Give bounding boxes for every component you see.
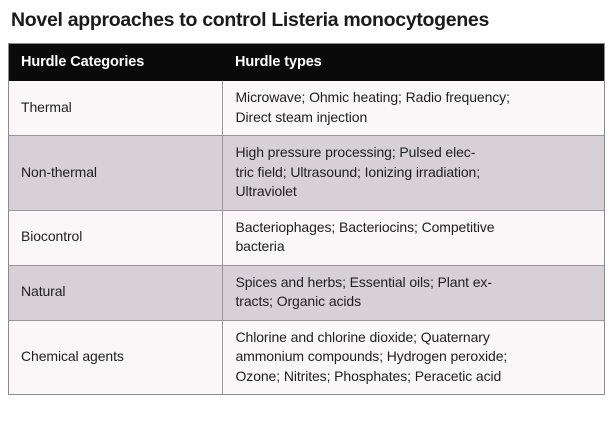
cell-hurdle-category: Chemical agents (9, 320, 222, 394)
cell-text-line: Direct steam injection (236, 108, 597, 128)
table-row: NaturalSpices and herbs; Essential oils;… (9, 265, 604, 320)
cell-text-line: Bacteriophages; Bacteriocins; Competitiv… (236, 218, 597, 238)
cell-hurdle-types: Chlorine and chlorine dioxide; Quaternar… (222, 320, 604, 394)
cell-hurdle-category: Non-thermal (9, 136, 222, 211)
cell-text-line: Ultraviolet (236, 182, 597, 202)
cell-text-line: bacteria (236, 237, 597, 257)
cell-text-line: Spices and herbs; Essential oils; Plant … (236, 273, 597, 293)
cell-hurdle-types: Spices and herbs; Essential oils; Plant … (222, 265, 604, 320)
cell-text-line: High pressure processing; Pulsed elec- (236, 143, 597, 163)
cell-hurdle-types: Bacteriophages; Bacteriocins; Competitiv… (222, 210, 604, 265)
cell-hurdle-category: Biocontrol (9, 210, 222, 265)
cell-text-line: Chlorine and chlorine dioxide; Quaternar… (236, 328, 597, 348)
table-row: Non-thermalHigh pressure processing; Pul… (9, 136, 604, 211)
cell-text-line: tric field; Ultrasound; Ionizing irradia… (236, 163, 597, 183)
cell-text-line: Ozone; Nitrites; Phosphates; Peracetic a… (236, 367, 597, 387)
table-row: Chemical agentsChlorine and chlorine dio… (9, 320, 604, 394)
table-header-row: Hurdle Categories Hurdle types (9, 44, 604, 81)
column-header-hurdle-types: Hurdle types (222, 44, 604, 81)
page-title: Novel approaches to control Listeria mon… (11, 8, 607, 32)
table-header: Hurdle Categories Hurdle types (9, 44, 604, 81)
cell-hurdle-category: Thermal (9, 81, 222, 136)
cell-text-line: ammonium compounds; Hydrogen peroxide; (236, 347, 597, 367)
cell-text-line: tracts; Organic acids (236, 292, 597, 312)
column-header-hurdle-categories: Hurdle Categories (9, 44, 222, 81)
hurdle-table: Hurdle Categories Hurdle types ThermalMi… (9, 44, 604, 394)
table-row: ThermalMicrowave; Ohmic heating; Radio f… (9, 81, 604, 136)
table-row: BiocontrolBacteriophages; Bacteriocins; … (9, 210, 604, 265)
page-root: Novel approaches to control Listeria mon… (0, 0, 614, 426)
cell-hurdle-category: Natural (9, 265, 222, 320)
cell-hurdle-types: High pressure processing; Pulsed elec-tr… (222, 136, 604, 211)
cell-text-line: Microwave; Ohmic heating; Radio frequenc… (236, 88, 597, 108)
hurdle-table-container: Hurdle Categories Hurdle types ThermalMi… (8, 43, 605, 395)
table-body: ThermalMicrowave; Ohmic heating; Radio f… (9, 81, 604, 394)
cell-hurdle-types: Microwave; Ohmic heating; Radio frequenc… (222, 81, 604, 136)
